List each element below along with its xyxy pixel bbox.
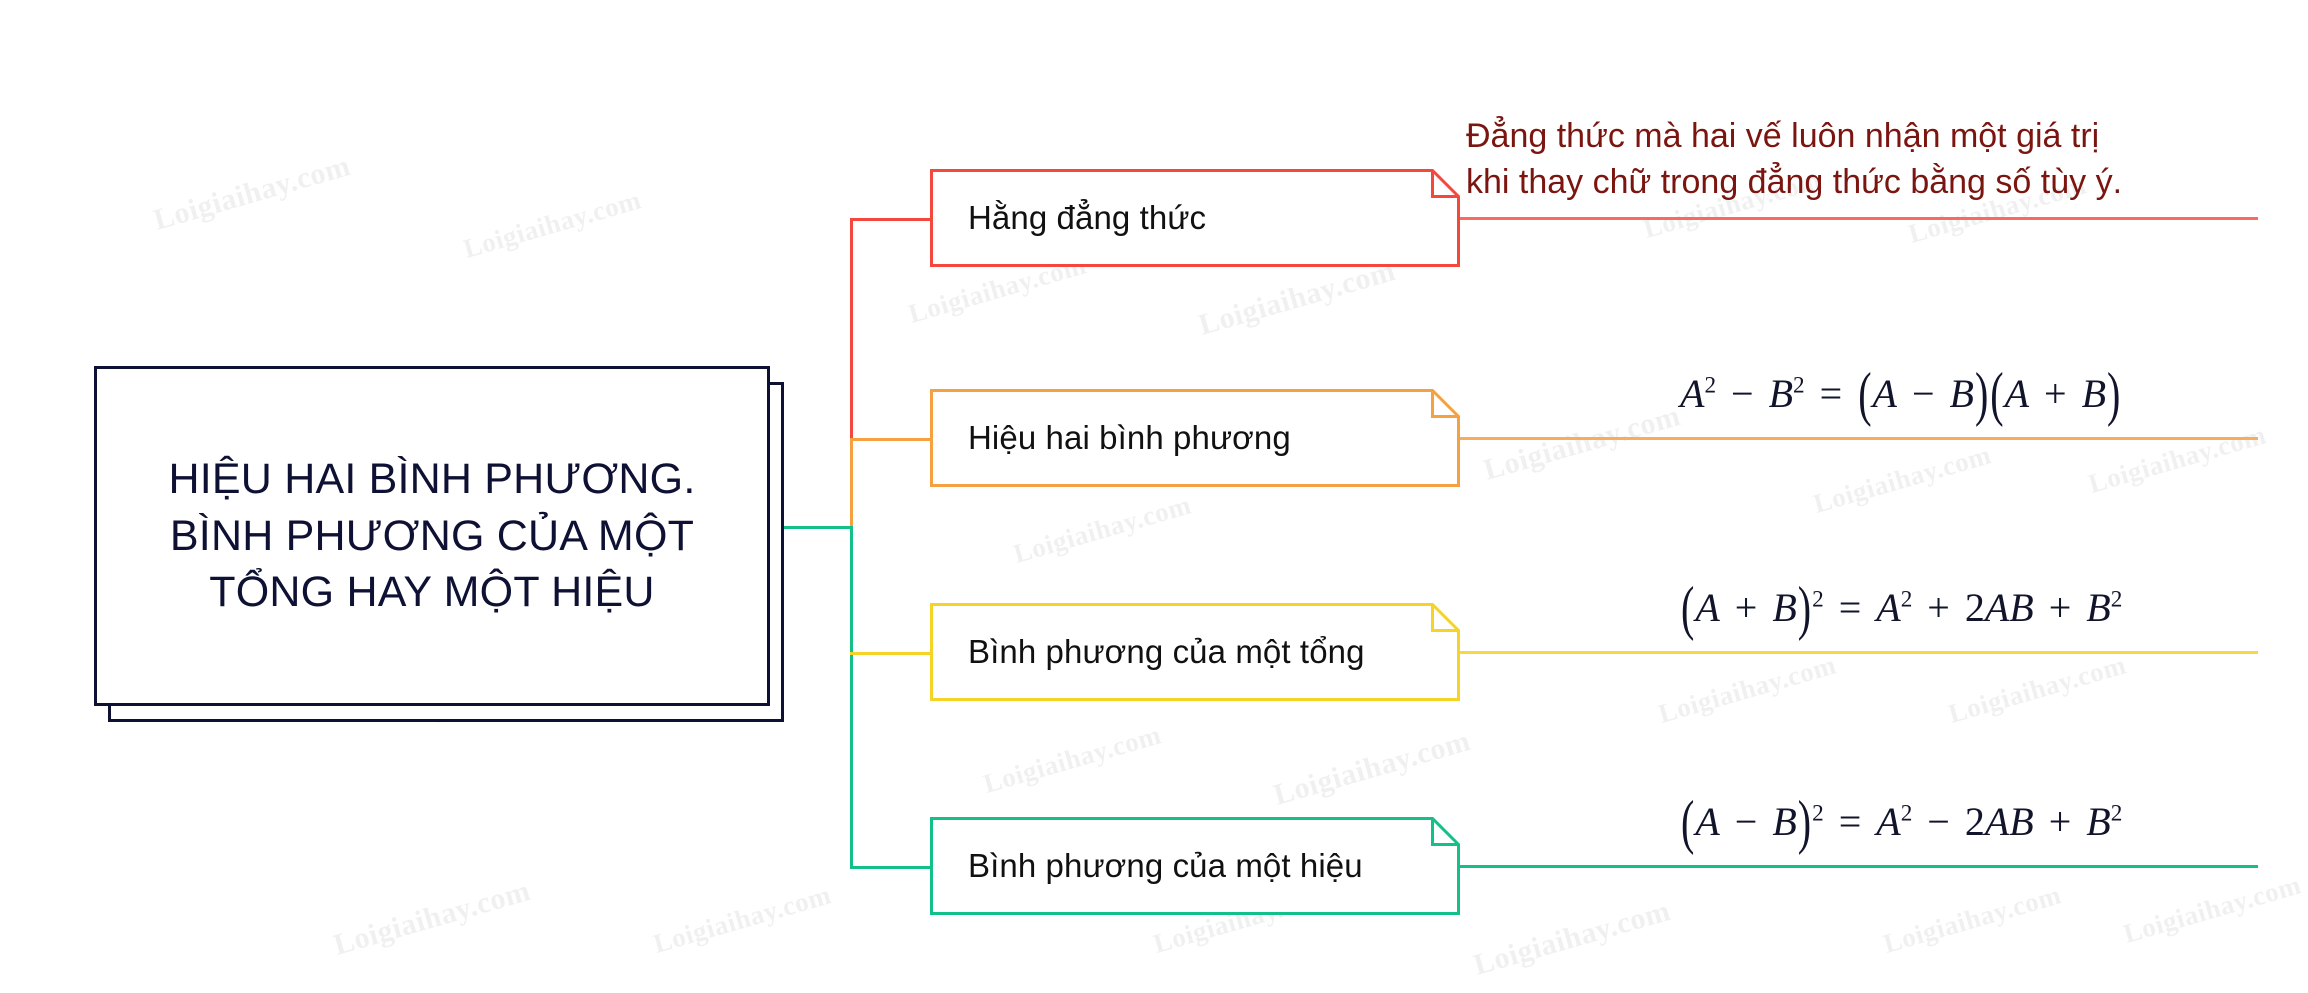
connector-red-horizontal: [850, 218, 930, 221]
connector-orange-vertical: [850, 438, 853, 530]
branch-box-hang-dang-thuc[interactable]: Hằng đẳng thức: [930, 169, 1460, 267]
connector-orange-horizontal: [850, 438, 930, 441]
watermark: Loigiaihay.com: [1480, 399, 1684, 488]
watermark: Loigiaihay.com: [1655, 649, 1840, 729]
watermark: Loigiaihay.com: [2120, 869, 2305, 949]
branch-box-hieu-hai-binh-phuong[interactable]: Hiệu hai bình phương: [930, 389, 1460, 487]
connector-right-hieu-hai-binh-phuong: [1460, 437, 2258, 440]
central-node-box[interactable]: HIỆU HAI BÌNH PHƯƠNG. BÌNH PHƯƠNG CỦA MỘ…: [94, 366, 770, 706]
connector-teal-horizontal: [850, 866, 930, 869]
connector-right-hang-dang-thuc: [1460, 217, 2258, 220]
mindmap-canvas: Loigiaihay.comLoigiaihay.comLoigiaihay.c…: [0, 0, 2308, 993]
branch-label-hang-dang-thuc: Hằng đẳng thức: [968, 169, 1206, 267]
watermark: Loigiaihay.com: [330, 874, 534, 963]
branch-box-binh-phuong-cua-mot-tong[interactable]: Bình phương của một tổng: [930, 603, 1460, 701]
branch-formula-binh-phuong-cua-mot-tong: (A + B)2 = A2 + 2AB + B2: [1680, 584, 2122, 631]
watermark: Loigiaihay.com: [650, 879, 835, 959]
watermark: Loigiaihay.com: [1945, 649, 2130, 729]
central-node[interactable]: HIỆU HAI BÌNH PHƯƠNG. BÌNH PHƯƠNG CỦA MỘ…: [94, 366, 784, 722]
watermark: Loigiaihay.com: [1810, 439, 1995, 519]
branch-note-hang-dang-thuc: Đẳng thức mà hai vế luôn nhận một giá tr…: [1466, 114, 2122, 205]
watermark: Loigiaihay.com: [1470, 894, 1674, 983]
watermark: Loigiaihay.com: [2085, 419, 2270, 499]
watermark: Loigiaihay.com: [1880, 879, 2065, 959]
branch-box-binh-phuong-cua-mot-hieu[interactable]: Bình phương của một hiệu: [930, 817, 1460, 915]
branch-label-binh-phuong-cua-mot-hieu: Bình phương của một hiệu: [968, 817, 1363, 915]
watermark: Loigiaihay.com: [1270, 724, 1474, 813]
branch-formula-hieu-hai-binh-phuong: A2 − B2 = (A − B)(A + B): [1680, 370, 2121, 417]
watermark: Loigiaihay.com: [980, 719, 1165, 799]
central-node-title: HIỆU HAI BÌNH PHƯƠNG. BÌNH PHƯƠNG CỦA MỘ…: [123, 451, 741, 621]
branch-formula-binh-phuong-cua-mot-hieu: (A − B)2 = A2 − 2AB + B2: [1680, 798, 2122, 845]
watermark: Loigiaihay.com: [1010, 489, 1195, 569]
branch-label-hieu-hai-binh-phuong: Hiệu hai bình phương: [968, 389, 1291, 487]
watermark: Loigiaihay.com: [460, 184, 645, 264]
watermark: Loigiaihay.com: [1195, 254, 1399, 343]
branch-label-binh-phuong-cua-mot-tong: Bình phương của một tổng: [968, 603, 1365, 701]
branch-note-line-2: khi thay chữ trong đẳng thức bằng số tùy…: [1466, 160, 2122, 206]
connector-right-binh-phuong-cua-mot-tong: [1460, 651, 2258, 654]
connector-right-binh-phuong-cua-mot-hieu: [1460, 865, 2258, 868]
branch-note-line-1: Đẳng thức mà hai vế luôn nhận một giá tr…: [1466, 114, 2122, 160]
connector-teal-vertical: [850, 526, 853, 869]
connector-root-stem: [784, 526, 852, 529]
connector-yellow-horizontal: [850, 652, 930, 655]
watermark: Loigiaihay.com: [150, 149, 354, 238]
